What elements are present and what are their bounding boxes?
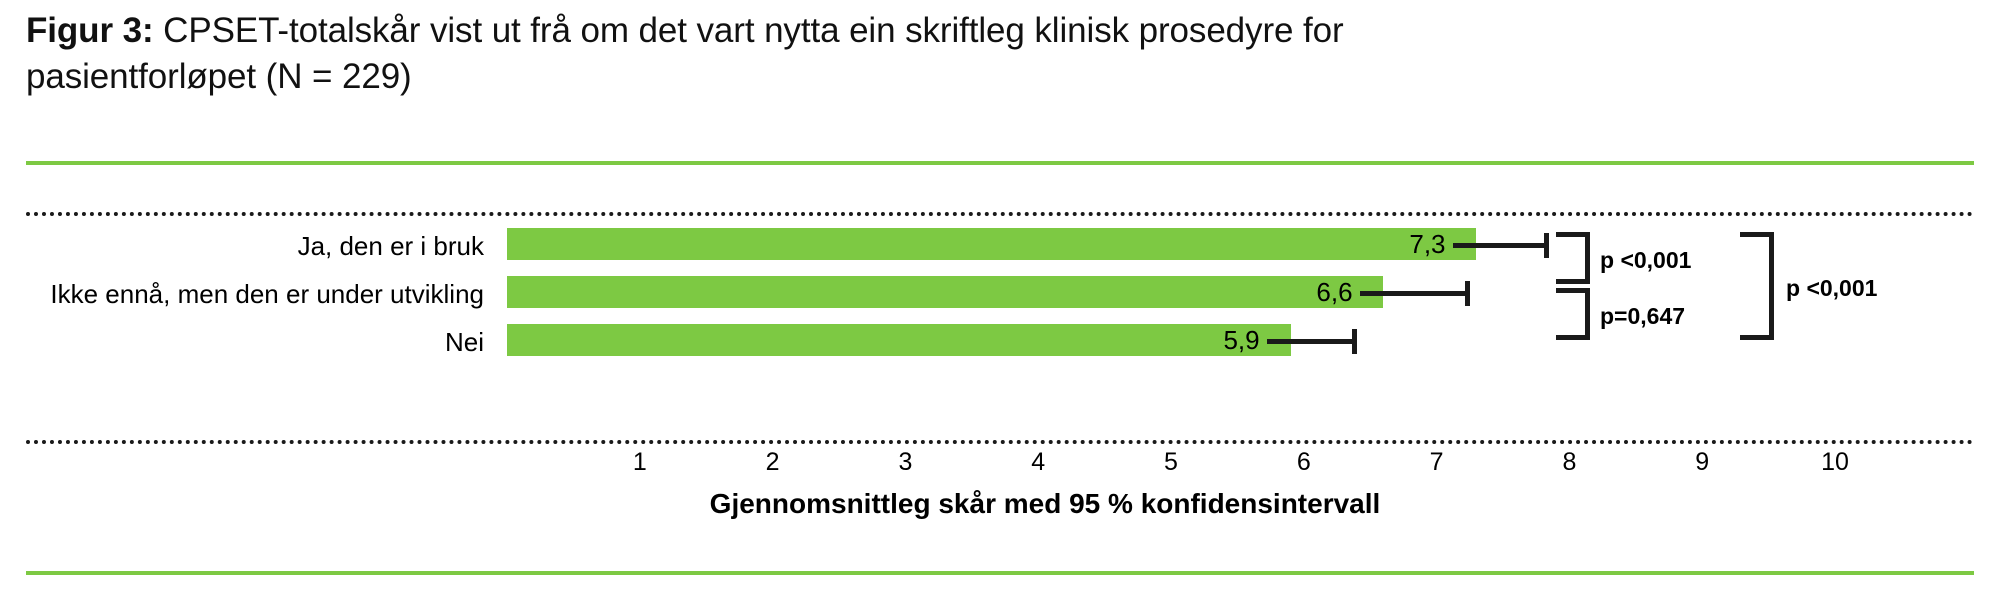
value-text: 6,6 [1309,276,1359,308]
x-tick-5: 5 [1141,448,1201,477]
category-label-ikke: Ikke ennå, men den er under utvikling [0,279,484,310]
error-bar-cap-high [1465,281,1470,306]
significance-label-bottom: p=0,647 [1600,303,1685,330]
divider-rule-bottom [26,571,1974,575]
x-axis-title-text: Gjennomsnittleg skår med 95 % konfidensi… [710,488,1381,520]
divider-rule-top [26,161,1974,165]
figure-caption: Figur 3: CPSET-totalskår vist ut frå om … [26,8,1426,100]
x-tick-2: 2 [743,448,803,477]
x-tick-3: 3 [875,448,935,477]
x-tick-8: 8 [1539,448,1599,477]
value-label-ja: 7,3 [1384,228,1470,260]
x-tick-1: 1 [610,448,670,477]
bar-chart: Ja, den er i bruk Ikke ennå, men den er … [0,200,2000,530]
value-text: 7,3 [1402,228,1452,260]
significance-label-top: p <0,001 [1600,247,1691,274]
bar-nei[interactable] [507,324,1291,356]
plot-border-bottom [26,440,1974,444]
error-bar-cap-high [1544,233,1549,258]
x-tick-7: 7 [1407,448,1467,477]
significance-bracket-bottom [1556,288,1590,340]
figure-number: Figur 3: [26,11,154,50]
value-label-ikke: 6,6 [1291,276,1377,308]
significance-bracket-top [1556,232,1590,284]
value-label-nei: 5,9 [1199,324,1285,356]
plot-border-top [26,212,1974,216]
bar-ikke[interactable] [507,276,1383,308]
x-tick-9: 9 [1672,448,1732,477]
value-text: 5,9 [1216,324,1266,356]
significance-label-outer: p <0,001 [1786,275,1877,302]
category-label-nei: Nei [0,327,484,358]
x-tick-10: 10 [1805,448,1865,477]
x-tick-4: 4 [1008,448,1068,477]
significance-bracket-outer [1740,232,1774,340]
x-tick-6: 6 [1274,448,1334,477]
figure-caption-text: CPSET-totalskår vist ut frå om det vart … [26,11,1344,96]
x-axis-title: Gjennomsnittleg skår med 95 % konfidensi… [0,488,2000,520]
category-label-ja: Ja, den er i bruk [0,231,484,262]
error-bar-cap-high [1352,329,1357,354]
bar-ja[interactable] [507,228,1476,260]
